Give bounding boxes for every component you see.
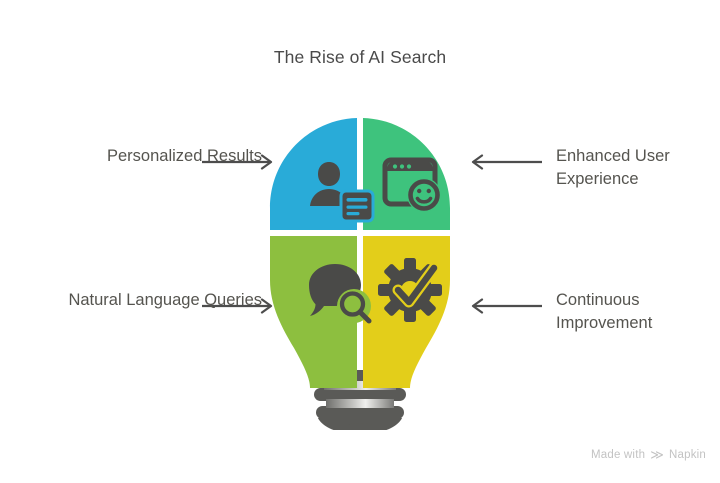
label-enhanced-user-experience: Enhanced User Experience bbox=[556, 145, 720, 191]
label-personalized-results: Personalized Results bbox=[62, 145, 262, 168]
diagram-canvas: The Rise of AI Search bbox=[0, 0, 720, 483]
page-title: The Rise of AI Search bbox=[0, 47, 720, 68]
lightbulb-graphic bbox=[252, 100, 468, 430]
napkin-logo-icon: ≫ bbox=[650, 448, 664, 461]
arrow-left-continuous-improvement bbox=[464, 298, 544, 314]
label-natural-language-queries: Natural Language Queries bbox=[22, 289, 262, 312]
label-continuous-improvement: Continuous Improvement bbox=[556, 289, 720, 335]
napkin-watermark: Made with ≫ Napkin bbox=[591, 448, 706, 461]
arrow-left-enhanced-user-experience bbox=[464, 154, 544, 170]
watermark-prefix: Made with bbox=[591, 449, 645, 461]
watermark-brand: Napkin bbox=[669, 449, 706, 461]
